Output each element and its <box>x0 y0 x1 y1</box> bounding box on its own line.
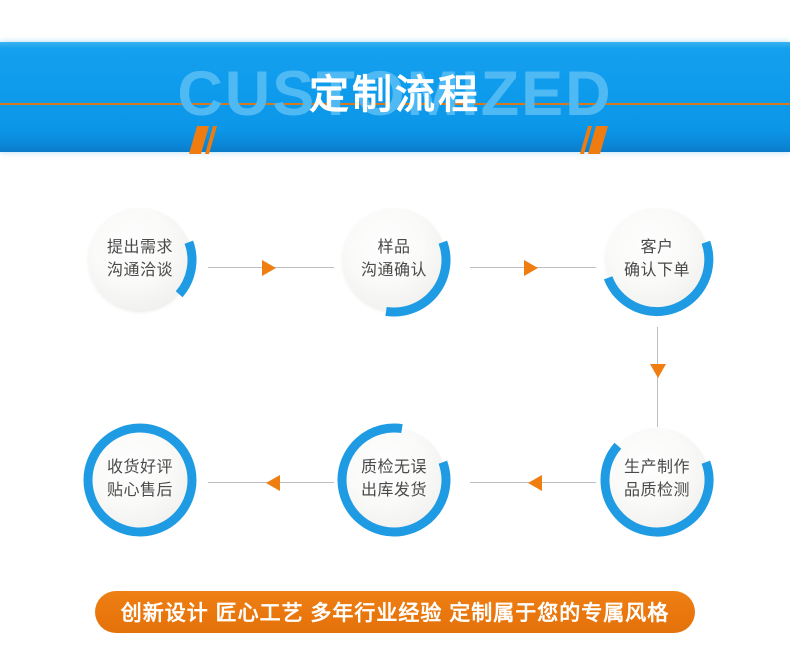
flow-step-line1: 客户 <box>640 237 673 260</box>
flow-step-1[interactable]: 提出需求 沟通洽谈 <box>80 200 200 320</box>
flow-step-line1: 提出需求 <box>107 237 173 260</box>
flow-step-6[interactable]: 收货好评 贴心售后 <box>80 420 200 540</box>
flow-step-line2: 贴心售后 <box>107 480 173 503</box>
connector-arrow-step2-step3-icon <box>524 260 538 276</box>
flow-step-line2: 出库发货 <box>361 480 427 503</box>
flow-step-label: 质检无误 出库发货 <box>334 420 454 540</box>
flow-step-5[interactable]: 质检无误 出库发货 <box>334 420 454 540</box>
flow-step-line2: 确认下单 <box>624 260 690 283</box>
flow-step-line2: 品质检测 <box>624 480 690 503</box>
flow-step-line1: 收货好评 <box>107 457 173 480</box>
flow-step-line1: 质检无误 <box>361 457 427 480</box>
flow-step-line2: 沟通确认 <box>361 260 427 283</box>
flow-step-2[interactable]: 样品 沟通确认 <box>334 200 454 320</box>
flow-step-label: 样品 沟通确认 <box>334 200 454 320</box>
flow-step-3[interactable]: 客户 确认下单 <box>597 200 717 320</box>
flow-step-line2: 沟通洽谈 <box>107 260 173 283</box>
footer-slogan-banner: 创新设计 匠心工艺 多年行业经验 定制属于您的专属风格 <box>95 591 695 633</box>
flow-step-label: 客户 确认下单 <box>597 200 717 320</box>
page-header: CUSTOMIZED 定制流程 <box>0 42 790 152</box>
process-flow-diagram: 提出需求 沟通洽谈 样品 沟通确认 客户 确认下单 生产制作 品质检测 质检无误 <box>0 152 790 582</box>
flow-step-label: 生产制作 品质检测 <box>597 420 717 540</box>
connector-arrow-step1-step2-icon <box>262 260 276 276</box>
flow-step-label: 收货好评 贴心售后 <box>80 420 200 540</box>
connector-arrow-step5-step6-icon <box>266 475 280 491</box>
flow-step-4[interactable]: 生产制作 品质检测 <box>597 420 717 540</box>
flow-step-line1: 样品 <box>377 237 410 260</box>
connector-arrow-step4-step5-icon <box>528 475 542 491</box>
flow-step-label: 提出需求 沟通洽谈 <box>80 200 200 320</box>
page-title: 定制流程 <box>0 42 790 152</box>
footer-slogan-text: 创新设计 匠心工艺 多年行业经验 定制属于您的专属风格 <box>121 597 670 627</box>
flow-step-line1: 生产制作 <box>624 457 690 480</box>
connector-arrow-step3-step4-icon <box>650 364 666 378</box>
